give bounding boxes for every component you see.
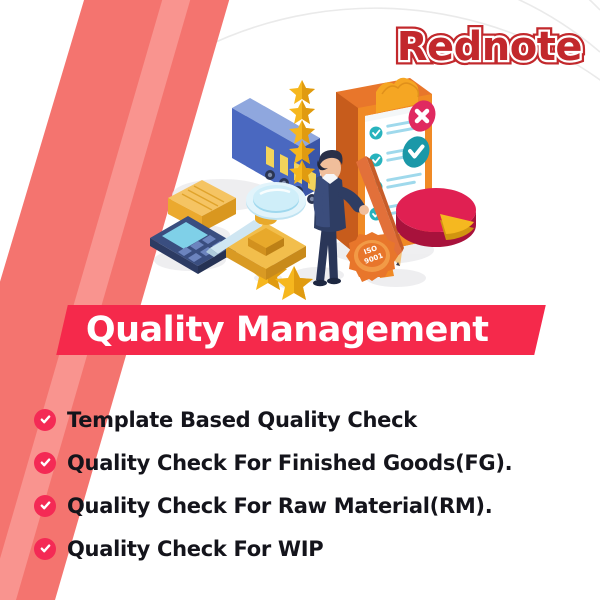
list-item[interactable]: Quality Check For Raw Material(RM). (34, 484, 574, 527)
list-item-label: Quality Check For WIP (67, 537, 323, 561)
check-circle-icon (34, 452, 56, 474)
quality-management-illustration: ISO 9001 (150, 70, 480, 305)
list-item[interactable]: Template Based Quality Check (34, 398, 574, 441)
feature-list: Template Based Quality Check Quality Che… (34, 398, 574, 570)
list-item[interactable]: Quality Check For Finished Goods(FG). (34, 441, 574, 484)
list-item-label: Template Based Quality Check (67, 408, 417, 432)
poster-canvas: Rednote Rednote Rednote (0, 0, 600, 600)
pie-chart-icon (396, 188, 476, 247)
check-circle-icon (34, 495, 56, 517)
check-circle-icon (34, 538, 56, 560)
page-title: Quality Management (86, 313, 540, 348)
list-item-label: Quality Check For Finished Goods(FG). (67, 451, 512, 475)
check-circle-icon (34, 409, 56, 431)
list-item-label: Quality Check For Raw Material(RM). (67, 494, 492, 518)
brand-logo-text: Rednote (397, 24, 582, 70)
title-banner: Quality Management (56, 305, 546, 355)
list-item[interactable]: Quality Check For WIP (34, 527, 574, 570)
